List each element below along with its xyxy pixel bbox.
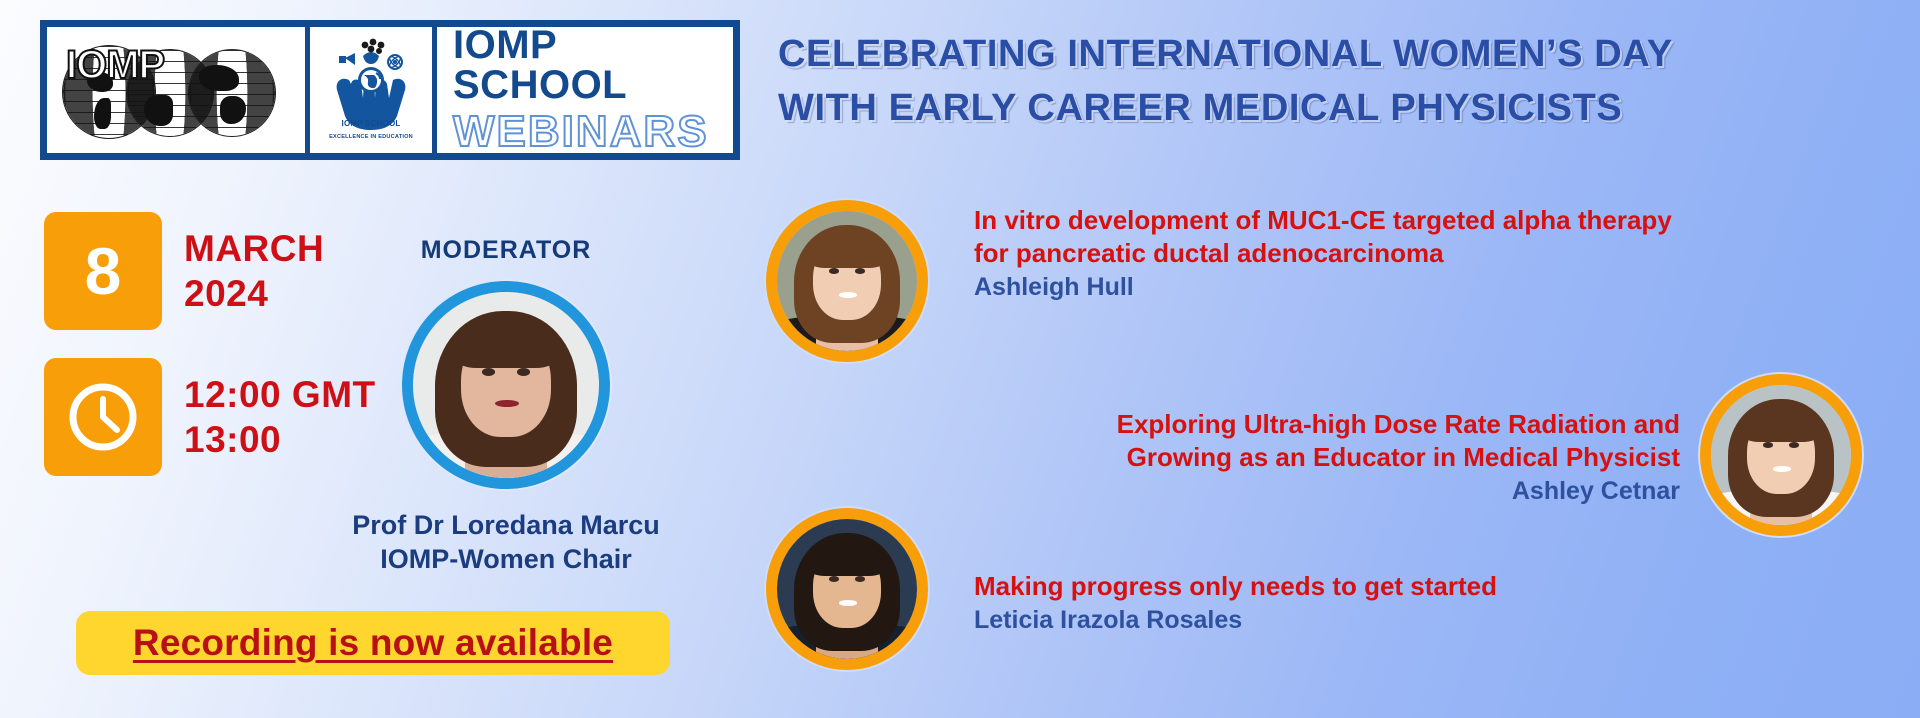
iomp-wordmark: IOMP bbox=[66, 43, 164, 88]
recording-label[interactable]: Recording is now available bbox=[133, 622, 613, 664]
clock-icon bbox=[63, 377, 143, 457]
date-day: 8 bbox=[85, 238, 122, 304]
webinars-line2: WEBINARS bbox=[453, 109, 709, 155]
page-title-line2: WITH EARLY CAREER MEDICAL PHYSICISTS bbox=[778, 82, 1868, 136]
speaker-name: Ashley Cetnar bbox=[980, 476, 1680, 508]
page-title-line1: CELEBRATING INTERNATIONAL WOMEN’S DAY bbox=[778, 28, 1868, 82]
date-month: MARCH bbox=[184, 226, 324, 271]
school-emblem-caption: IOMP SCHOOL bbox=[319, 119, 423, 128]
globe-right-icon bbox=[188, 49, 276, 137]
speaker-item: Exploring Ultra-high Dose Rate Radiation… bbox=[980, 408, 1880, 507]
moderator-block: MODERATOR Prof Dr Loredana Marcu IOMP-Wo… bbox=[346, 236, 666, 577]
date-month-year: MARCH 2024 bbox=[184, 226, 324, 316]
speaker-item: Making progress only needs to get starte… bbox=[766, 508, 1734, 636]
date-year: 2024 bbox=[184, 271, 324, 316]
speaker-text: In vitro development of MUC1-CE targeted… bbox=[974, 204, 1844, 303]
speaker-text: Making progress only needs to get starte… bbox=[974, 570, 1734, 636]
speaker-title-line2: Growing as an Educator in Medical Physic… bbox=[980, 441, 1680, 474]
moderator-avatar bbox=[402, 281, 610, 489]
speaker-text: Exploring Ultra-high Dose Rate Radiation… bbox=[980, 408, 1680, 507]
globes-graphic: IOMP bbox=[60, 37, 292, 143]
speaker-name: Leticia Irazola Rosales bbox=[974, 605, 1734, 637]
moderator-role: IOMP-Women Chair bbox=[346, 543, 666, 577]
moderator-label: MODERATOR bbox=[346, 236, 666, 265]
page-title: CELEBRATING INTERNATIONAL WOMEN’S DAY WI… bbox=[778, 28, 1868, 136]
speaker-title-line1: Making progress only needs to get starte… bbox=[974, 570, 1734, 603]
speaker-title: Making progress only needs to get starte… bbox=[974, 570, 1734, 603]
time-block: 12:00 GMT 13:00 bbox=[44, 358, 376, 476]
speaker-avatar bbox=[766, 508, 928, 670]
webinars-wordmark: IOMP SCHOOL WEBINARS bbox=[437, 27, 733, 153]
speaker-item: In vitro development of MUC1-CE targeted… bbox=[766, 200, 1844, 303]
webinars-line1: IOMP SCHOOL bbox=[453, 25, 733, 105]
date-block: 8 MARCH 2024 bbox=[44, 212, 324, 330]
speaker-name: Ashleigh Hull bbox=[974, 272, 1844, 304]
webinar-banner: IOMP bbox=[0, 0, 1920, 718]
speaker-title-line2: for pancreatic ductal adenocarcinoma bbox=[974, 237, 1844, 270]
iomp-globes-logo: IOMP bbox=[47, 27, 305, 153]
time-icon-box bbox=[44, 358, 162, 476]
speaker-title-line1: In vitro development of MUC1-CE targeted… bbox=[974, 204, 1844, 237]
recording-banner[interactable]: Recording is now available bbox=[76, 611, 670, 675]
speaker-title-line1: Exploring Ultra-high Dose Rate Radiation… bbox=[980, 408, 1680, 441]
date-day-box: 8 bbox=[44, 212, 162, 330]
speaker-avatar bbox=[766, 200, 928, 362]
logo-bar: IOMP bbox=[40, 20, 740, 160]
school-emblem-subcaption: EXCELLENCE IN EDUCATION bbox=[319, 134, 423, 140]
speaker-title: In vitro development of MUC1-CE targeted… bbox=[974, 204, 1844, 270]
speaker-title: Exploring Ultra-high Dose Rate Radiation… bbox=[980, 408, 1680, 474]
iomp-school-emblem: IOMP SCHOOL EXCELLENCE IN EDUCATION bbox=[305, 27, 437, 153]
moderator-name: Prof Dr Loredana Marcu bbox=[346, 509, 666, 543]
